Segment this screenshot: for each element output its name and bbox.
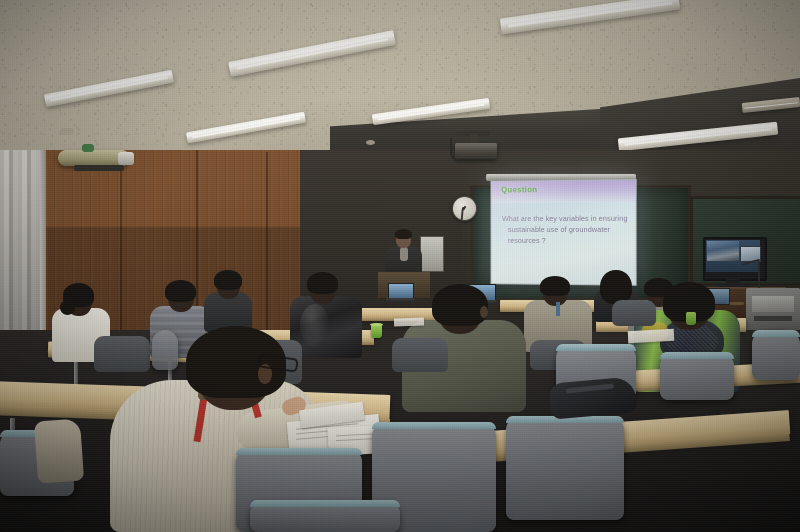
photograph-lecture-room: Question What are the key variables in e…: [0, 0, 800, 532]
chair-rim: [660, 352, 734, 359]
padded-chair[interactable]: [152, 330, 178, 370]
chair-rim: [752, 330, 800, 337]
attendee-dark-rear-hair: [214, 270, 242, 290]
wall-seam: [120, 150, 122, 340]
padded-chair[interactable]: [94, 336, 150, 372]
video-conference-feed: [707, 241, 739, 261]
attendee-leather-jacket-sheen: [300, 304, 330, 348]
attendee-khaki-shirt-hair: [540, 276, 570, 296]
roller-end-cap: [118, 152, 134, 165]
av-slot: [754, 316, 792, 321]
projector-cable: [450, 138, 462, 162]
ceiling-sensor: [366, 140, 375, 145]
attendee-long-hair-hair: [600, 270, 632, 304]
padded-chair[interactable]: [392, 338, 448, 372]
handout-documents[interactable]: [628, 329, 675, 343]
attendee-khaki-lanyard: [556, 302, 560, 316]
padded-chair[interactable]: [612, 300, 656, 326]
attendee-leather-jacket-hair: [307, 272, 338, 294]
av-control-panel[interactable]: [752, 296, 794, 312]
attendee-olive-jacket-hair: [432, 284, 488, 326]
presenter-shirt: [400, 247, 408, 261]
roller-knob: [82, 144, 94, 152]
paper-cup[interactable]: [686, 312, 696, 325]
backpack[interactable]: [549, 376, 638, 419]
paper-cup[interactable]: [371, 324, 382, 338]
laptop-base: [386, 298, 414, 302]
padded-chair[interactable]: [752, 330, 800, 380]
chair-rim: [236, 448, 362, 455]
attendee-olive-jacket-ear: [480, 306, 488, 318]
ceiling-vent: [60, 128, 74, 135]
small-whiteboard: [420, 236, 444, 272]
attendee-grey-stripe-hair: [165, 280, 196, 302]
roller-bracket: [74, 165, 124, 171]
chair-rim: [250, 500, 400, 507]
clock-center-pin: [462, 207, 465, 210]
padded-chair[interactable]: [506, 416, 624, 520]
padded-chair[interactable]: [660, 352, 734, 400]
clock-minute-hand: [461, 211, 463, 220]
presenter-hair: [395, 229, 412, 239]
draped-coat: [34, 418, 84, 483]
wall-seam: [266, 152, 268, 330]
handout-documents[interactable]: [394, 317, 424, 326]
chair-rim: [556, 344, 636, 351]
padded-chair[interactable]: [250, 500, 400, 532]
paper-cup-rim: [370, 323, 383, 326]
chair-rim: [372, 422, 496, 429]
attendee-white-top-bun: [60, 300, 75, 315]
